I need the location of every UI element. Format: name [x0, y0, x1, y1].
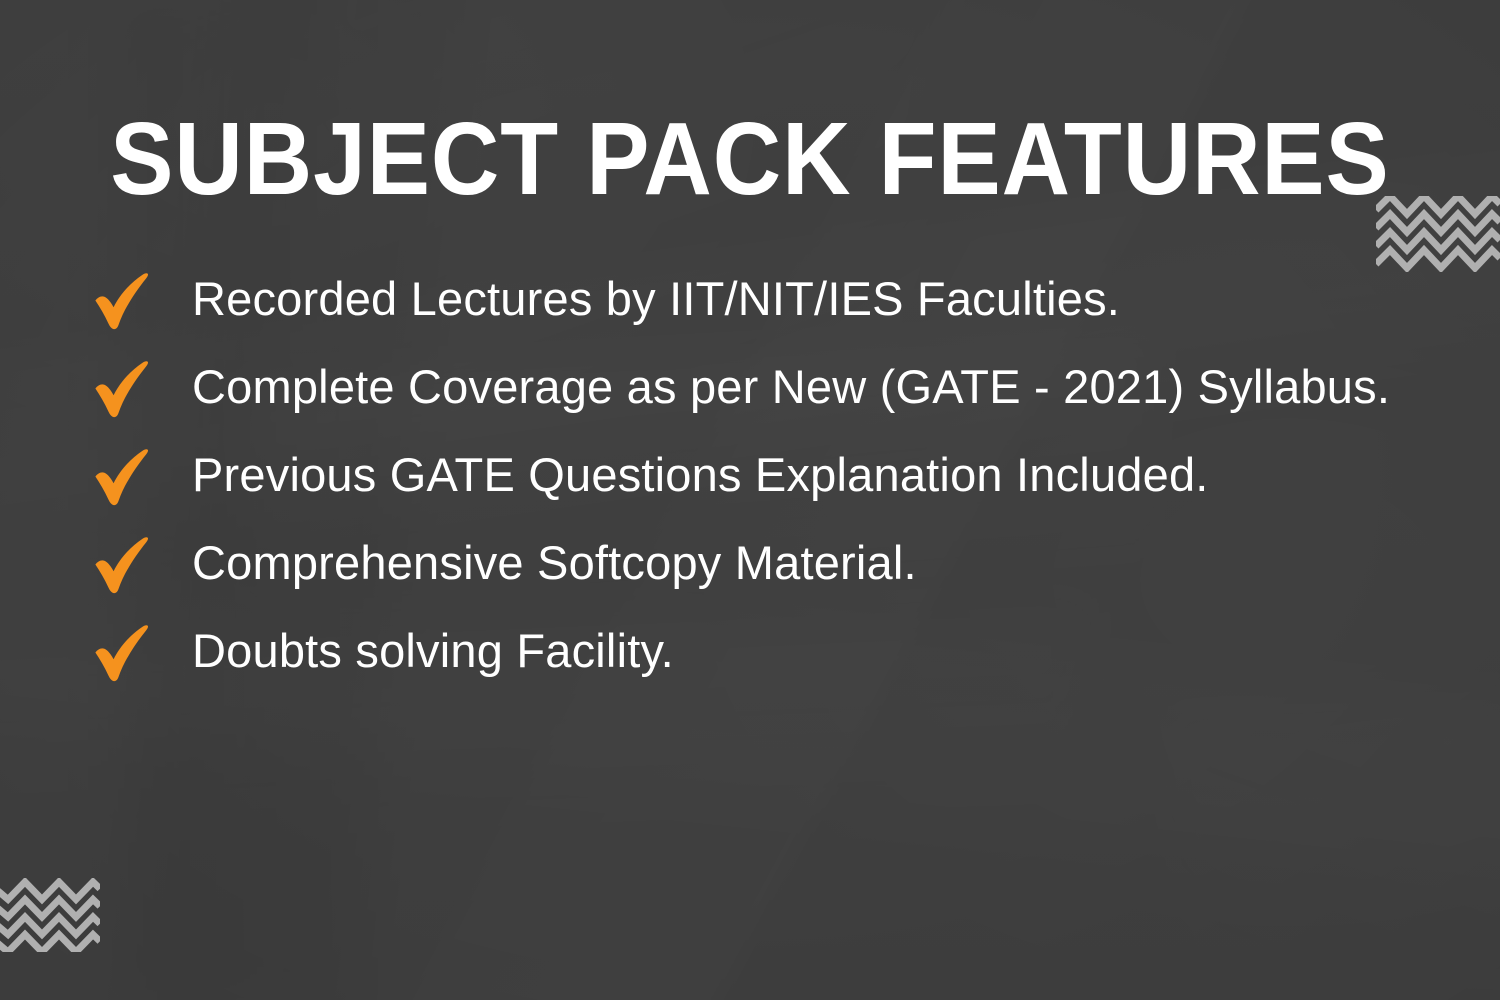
list-item: Comprehensive Softcopy Material. [92, 532, 1452, 594]
orange-check-icon [92, 622, 154, 684]
list-item-label: Previous GATE Questions Explanation Incl… [192, 444, 1452, 505]
features-list: Recorded Lectures by IIT/NIT/IES Faculti… [92, 268, 1452, 682]
page-title: SUBJECT PACK FEATURES [60, 107, 1440, 210]
orange-check-icon [92, 446, 154, 508]
list-item: Previous GATE Questions Explanation Incl… [92, 444, 1452, 506]
orange-check-icon [92, 534, 154, 596]
list-item-label: Recorded Lectures by IIT/NIT/IES Faculti… [192, 268, 1452, 329]
orange-check-icon [92, 270, 154, 332]
orange-check-icon [92, 358, 154, 420]
list-item: Recorded Lectures by IIT/NIT/IES Faculti… [92, 268, 1452, 330]
list-item-label: Complete Coverage as per New (GATE - 202… [192, 356, 1452, 417]
list-item-label: Comprehensive Softcopy Material. [192, 532, 1452, 593]
poster-content: SUBJECT PACK FEATURES Recorded Lectures … [0, 0, 1500, 1000]
list-item: Complete Coverage as per New (GATE - 202… [92, 356, 1452, 418]
list-item: Doubts solving Facility. [92, 620, 1452, 682]
subject-pack-features-poster: SUBJECT PACK FEATURES Recorded Lectures … [0, 0, 1500, 1000]
list-item-label: Doubts solving Facility. [192, 620, 1452, 681]
